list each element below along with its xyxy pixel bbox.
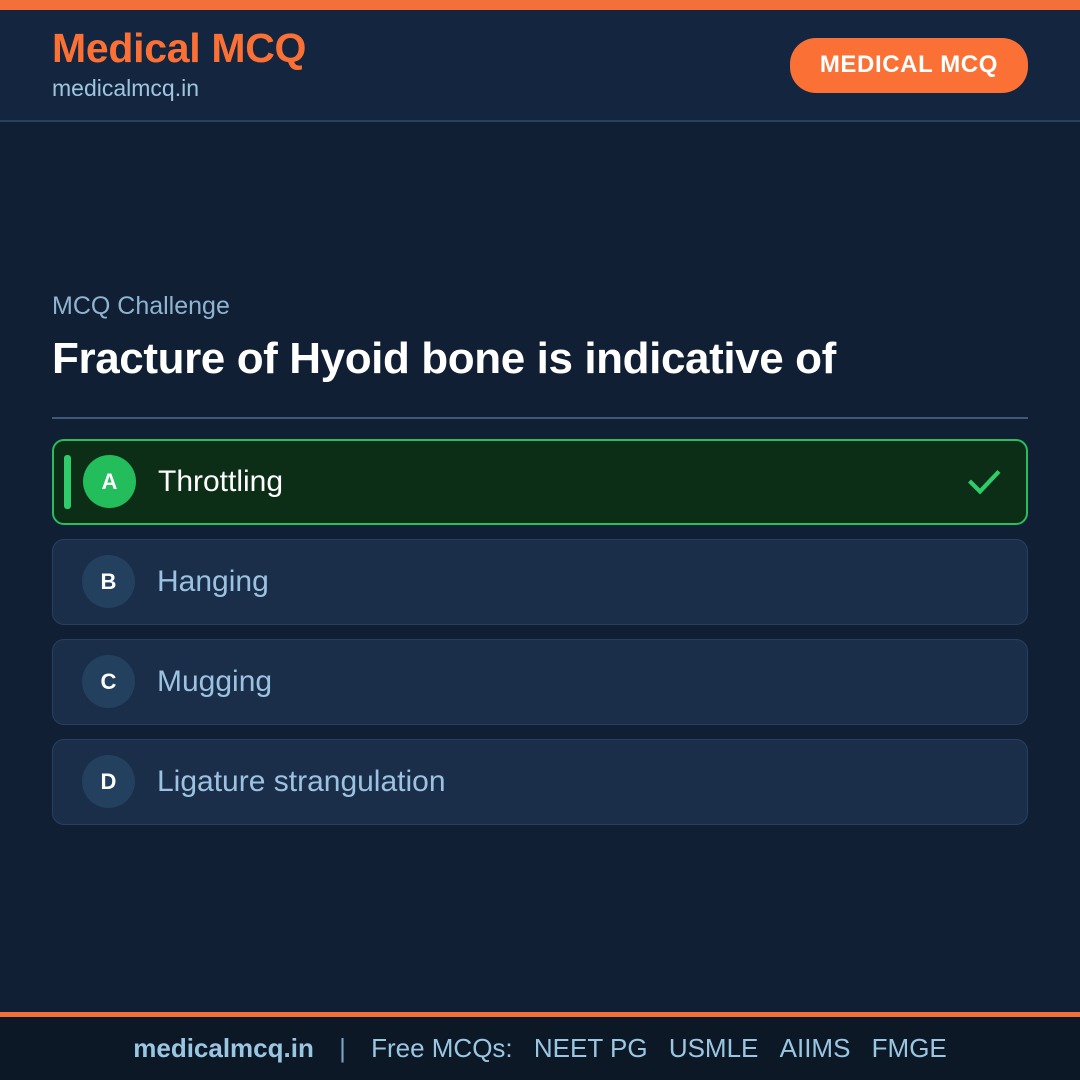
footer-exam-usmle: USMLE <box>669 1033 759 1063</box>
footer-exam-fmge: FMGE <box>872 1033 947 1063</box>
header-badge: MEDICAL MCQ <box>790 38 1028 93</box>
footer-exam-neet-pg: NEET PG <box>534 1033 648 1063</box>
option-letter-badge: A <box>83 455 136 508</box>
kicker-label: MCQ Challenge <box>52 294 1028 319</box>
top-spacer <box>52 122 1028 294</box>
footer-label: Free MCQs: <box>371 1033 513 1063</box>
question-text: Fracture of Hyoid bone is indicative of <box>52 333 842 386</box>
option-letter-badge: B <box>82 555 135 608</box>
brand-block: Medical MCQ medicalmcq.in <box>52 26 306 103</box>
footer-exam-aiims: AIIMS <box>780 1033 851 1063</box>
footer-separator: | <box>339 1033 346 1063</box>
option-letter-badge: D <box>82 755 135 808</box>
top-accent-bar <box>0 0 1080 10</box>
question-divider <box>52 417 1028 419</box>
option-label: Hanging <box>157 567 1003 597</box>
mcq-card: Medical MCQ medicalmcq.in MEDICAL MCQ MC… <box>0 0 1080 1080</box>
option-d[interactable]: D Ligature strangulation <box>52 739 1028 825</box>
option-b[interactable]: B Hanging <box>52 539 1028 625</box>
correct-accent-bar <box>64 455 71 509</box>
footer-site-link[interactable]: medicalmcq.in <box>133 1033 314 1063</box>
option-c[interactable]: C Mugging <box>52 639 1028 725</box>
brand-subtitle: medicalmcq.in <box>52 74 306 104</box>
options-list: A Throttling B Hanging C Mugging D Ligat… <box>52 439 1028 825</box>
option-a[interactable]: A Throttling <box>52 439 1028 525</box>
main-content: MCQ Challenge Fracture of Hyoid bone is … <box>0 122 1080 1012</box>
check-icon <box>966 464 1002 500</box>
option-label: Ligature strangulation <box>157 767 1003 797</box>
brand-title: Medical MCQ <box>52 26 306 70</box>
option-label: Mugging <box>157 667 1003 697</box>
footer-text: medicalmcq.in | Free MCQs: NEET PG USMLE… <box>133 1033 947 1064</box>
option-label: Throttling <box>158 467 966 497</box>
footer: medicalmcq.in | Free MCQs: NEET PG USMLE… <box>0 1012 1080 1080</box>
header: Medical MCQ medicalmcq.in MEDICAL MCQ <box>0 10 1080 122</box>
option-letter-badge: C <box>82 655 135 708</box>
